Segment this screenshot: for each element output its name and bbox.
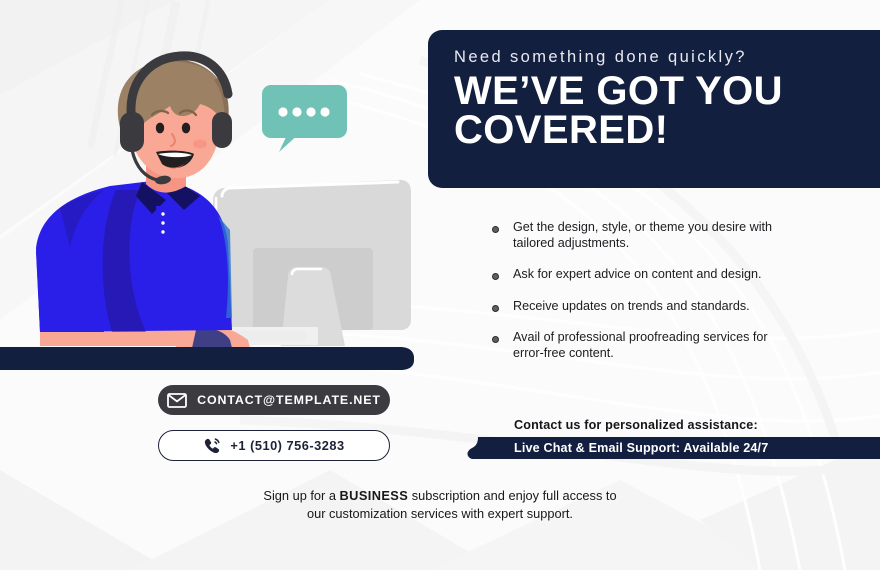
footer-line-1: Sign up for a BUSINESS subscription and … <box>0 487 880 505</box>
page-title: WE’VE GOT YOU COVERED! <box>454 72 854 150</box>
monitor-graphic <box>213 180 411 346</box>
bullet-dot-icon <box>492 336 499 343</box>
feature-list: Get the design, style, or theme you desi… <box>492 220 792 362</box>
list-item-label: Ask for expert advice on content and des… <box>513 267 762 283</box>
phone-contact-button[interactable]: +1 (510) 756-3283 <box>158 430 390 461</box>
list-item: Get the design, style, or theme you desi… <box>492 220 792 251</box>
bullet-dot-icon <box>492 273 499 280</box>
poster-canvas: Need something done quickly? WE’VE GOT Y… <box>0 0 880 570</box>
list-item: Ask for expert advice on content and des… <box>492 267 792 283</box>
contact-lead-text: Contact us for personalized assistance: <box>514 418 758 432</box>
illustration-svg <box>0 0 440 380</box>
support-availability-band: Live Chat & Email Support: Available 24/… <box>466 437 880 459</box>
footer-pre: Sign up for a <box>263 488 339 503</box>
support-agent-illustration <box>0 0 440 380</box>
headline-line-1: WE’VE GOT YOU <box>454 69 783 113</box>
footer-line-2: our customization services with expert s… <box>0 505 880 523</box>
headline-eyebrow: Need something done quickly? <box>454 48 854 68</box>
footer-note: Sign up for a BUSINESS subscription and … <box>0 487 880 522</box>
bullet-dot-icon <box>492 226 499 233</box>
speech-bubble-icon <box>262 85 347 152</box>
bullet-dot-icon <box>492 305 499 312</box>
support-availability-label: Live Chat & Email Support: Available 24/… <box>514 437 768 459</box>
headline-card: Need something done quickly? WE’VE GOT Y… <box>428 30 880 188</box>
footer-emphasis: BUSINESS <box>340 488 409 503</box>
email-contact-button[interactable]: CONTACT@TEMPLATE.NET <box>158 385 390 415</box>
footer-post: subscription and enjoy full access to <box>408 488 616 503</box>
envelope-icon <box>167 393 187 408</box>
headline-line-2: COVERED! <box>454 111 854 150</box>
list-item-label: Receive updates on trends and standards. <box>513 299 750 315</box>
phone-ring-icon <box>203 437 222 455</box>
email-contact-label: CONTACT@TEMPLATE.NET <box>197 393 381 407</box>
phone-contact-label: +1 (510) 756-3283 <box>230 438 344 453</box>
list-item: Receive updates on trends and standards. <box>492 299 792 315</box>
list-item-label: Avail of professional proofreading servi… <box>513 330 792 361</box>
list-item: Avail of professional proofreading servi… <box>492 330 792 361</box>
list-item-label: Get the design, style, or theme you desi… <box>513 220 792 251</box>
